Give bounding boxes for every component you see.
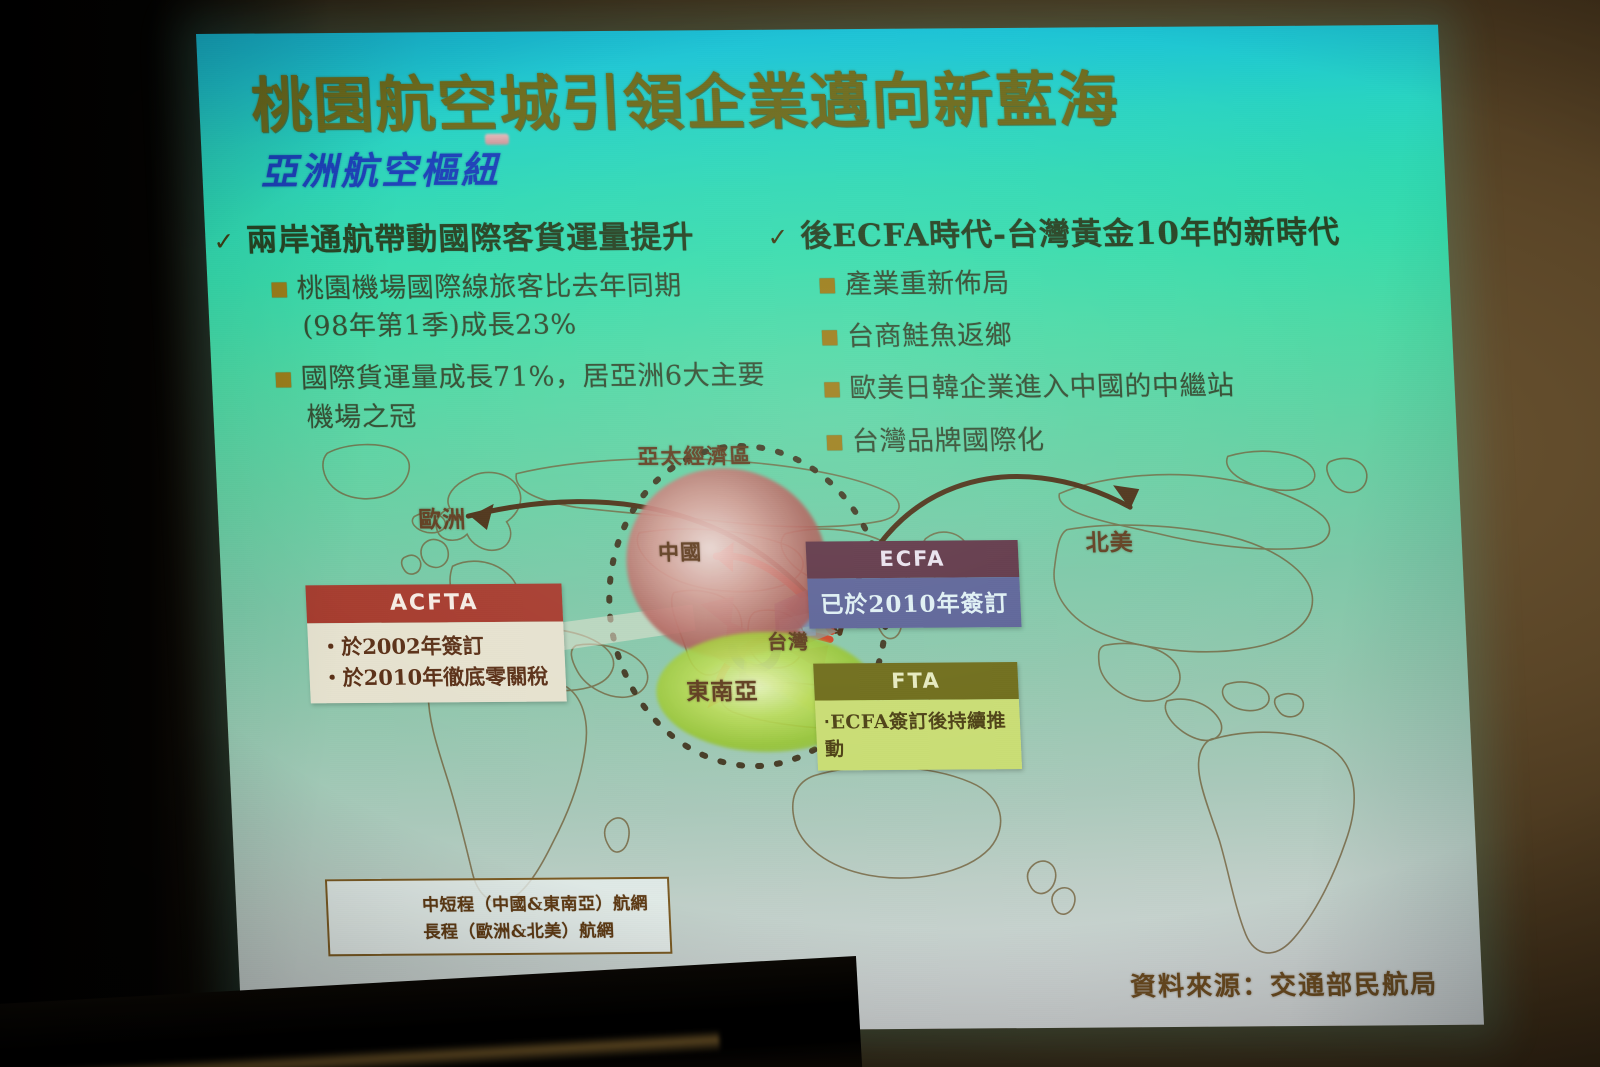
photo-of-projected-slide: 桃園航空城引領企業邁向新藍海 亞洲航空樞紐 ✓ 兩岸通航帶動國際客貨運量提升 桃… <box>0 0 1600 1067</box>
photo-vignette <box>0 0 1600 1067</box>
